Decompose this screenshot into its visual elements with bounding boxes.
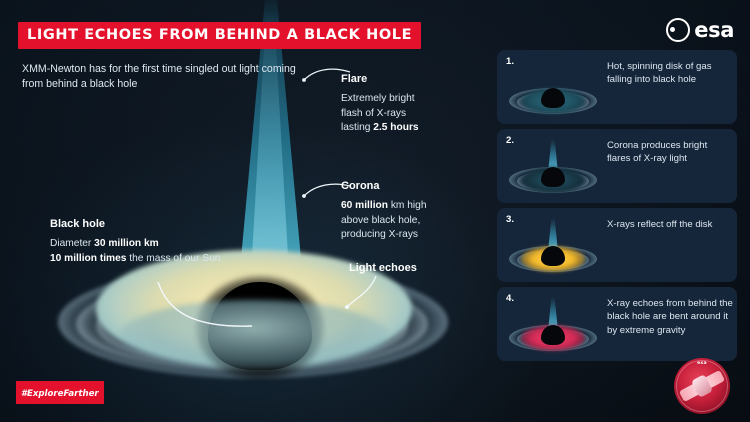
infographic-root: LIGHT ECHOES FROM BEHIND A BLACK HOLE XM… <box>0 0 750 422</box>
step-text: X-rays reflect off the disk <box>607 218 733 231</box>
callout-flare-line3-prefix: lasting <box>341 122 373 133</box>
xmm-newton-mission-patch-icon: esa <box>674 358 730 414</box>
callout-black-hole-body: Diameter 30 million km 10 million times … <box>50 237 290 266</box>
page-title-text: LIGHT ECHOES FROM BEHIND A BLACK HOLE <box>27 27 412 43</box>
thumb-event-horizon <box>541 88 565 108</box>
step-item-4[interactable]: 4. X-ray echoes from behind the black ho… <box>497 287 737 361</box>
page-title: LIGHT ECHOES FROM BEHIND A BLACK HOLE <box>18 22 421 49</box>
callout-black-hole-line2-suffix: the mass of our Sun <box>126 253 220 264</box>
patch-esa-label: esa <box>697 361 707 366</box>
callout-black-hole: Black hole Diameter 30 million km 10 mil… <box>50 218 290 266</box>
callout-black-hole-mass: 10 million times <box>50 253 126 264</box>
step-thumbnail-2 <box>503 137 603 199</box>
esa-logo: esa <box>666 18 734 42</box>
callout-black-hole-diameter: 30 million km <box>94 238 159 249</box>
callout-black-hole-heading: Black hole <box>50 218 290 230</box>
callout-corona-height: 60 million <box>341 200 388 211</box>
callout-corona: Corona 60 million km high above black ho… <box>341 180 491 243</box>
callout-corona-line2: above black hole, <box>341 215 420 226</box>
callout-corona-line1-suffix: km high <box>388 200 427 211</box>
callout-flare-body: Extremely bright flash of X-rays lasting… <box>341 92 481 136</box>
step-text: Hot, spinning disk of gas falling into b… <box>607 60 733 87</box>
callout-corona-body: 60 million km high above black hole, pro… <box>341 199 491 243</box>
callout-flare: Flare Extremely bright flash of X-rays l… <box>341 73 481 136</box>
callout-light-echoes: Light echoes <box>349 262 417 281</box>
hashtag-badge[interactable]: #ExploreFarther <box>16 381 104 404</box>
callout-corona-heading: Corona <box>341 180 491 192</box>
callout-flare-line2: flash of X-rays <box>341 108 406 119</box>
step-thumbnail-4 <box>503 295 603 357</box>
step-thumbnail-1 <box>503 58 603 120</box>
steps-list: 1. Hot, spinning disk of gas falling int… <box>497 50 737 366</box>
callout-flare-heading: Flare <box>341 73 481 85</box>
step-text: X-ray echoes from behind the black hole … <box>607 297 733 337</box>
step-item-1[interactable]: 1. Hot, spinning disk of gas falling int… <box>497 50 737 124</box>
intro-text: XMM-Newton has for the first time single… <box>22 62 302 92</box>
callout-flare-line1: Extremely bright <box>341 93 415 104</box>
thumb-event-horizon <box>541 325 565 345</box>
esa-wordmark: esa <box>694 20 734 41</box>
callout-corona-line3: producing X-rays <box>341 229 418 240</box>
step-item-3[interactable]: 3. X-rays reflect off the disk <box>497 208 737 282</box>
hashtag-text: #ExploreFarther <box>21 389 99 399</box>
esa-roundel-icon <box>666 18 690 42</box>
step-thumbnail-3 <box>503 216 603 278</box>
callout-flare-duration: 2.5 hours <box>373 122 418 133</box>
accretion-disk-front <box>120 300 388 370</box>
thumb-event-horizon <box>541 246 565 266</box>
callout-light-echoes-heading: Light echoes <box>349 262 417 274</box>
step-text: Corona produces bright flares of X-ray l… <box>607 139 733 166</box>
thumb-event-horizon <box>541 167 565 187</box>
step-item-2[interactable]: 2. Corona produces bright flares of X-ra… <box>497 129 737 203</box>
callout-black-hole-line1-prefix: Diameter <box>50 238 94 249</box>
